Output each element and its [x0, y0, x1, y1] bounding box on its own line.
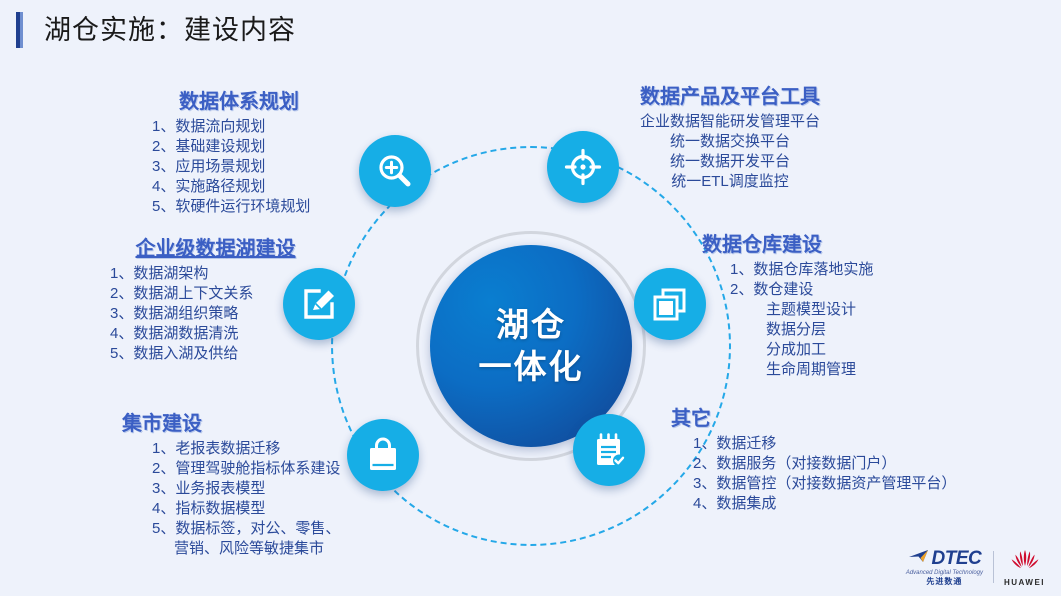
- list-item: 企业数据智能研发管理平台: [596, 112, 864, 132]
- dtec-wordmark: DTEC: [932, 549, 982, 568]
- huawei-flower-icon: [1008, 548, 1042, 576]
- block-list: 1、老报表数据迁移 2、管理驾驶舱指标体系建设 3、业务报表模型 4、指标数据模…: [122, 439, 387, 559]
- list-item: 1、老报表数据迁移: [152, 439, 387, 459]
- list-item: 3、数据湖组织策略: [110, 304, 353, 324]
- list-item: 1、数据迁移: [693, 434, 1001, 454]
- list-item: 4、数据集成: [693, 494, 1001, 514]
- hub-and-spoke-diagram: 湖仓 一体化: [0, 62, 1061, 596]
- list-item: 5、数据入湖及供给: [110, 344, 353, 364]
- list-item: 2、管理驾驶舱指标体系建设: [152, 459, 387, 479]
- block-enterprise-data-lake: 企业级数据湖建设 1、数据湖架构 2、数据湖上下文关系 3、数据湖组织策略 4、…: [78, 232, 353, 364]
- huawei-wordmark: HUAWEI: [1004, 579, 1045, 587]
- list-item: 1、数据仓库落地实施: [730, 260, 1002, 280]
- logo-divider: [993, 551, 994, 583]
- block-list: 1、数据流向规划 2、基础建设规划 3、应用场景规划 4、实施路径规划 5、软硬…: [108, 117, 370, 217]
- block-other: 其它 1、数据迁移 2、数据服务（对接数据门户） 3、数据管控（对接数据资产管理…: [671, 402, 1001, 514]
- block-list: 企业数据智能研发管理平台 统一数据交换平台 统一数据开发平台 统一ETL调度监控: [596, 112, 864, 192]
- list-item: 2、数据湖上下文关系: [110, 284, 353, 304]
- list-item: 5、数据标签，对公、零售、: [152, 519, 387, 539]
- huawei-logo: HUAWEI: [1004, 548, 1045, 587]
- list-item: 营销、风险等敏捷集市: [152, 539, 387, 559]
- title-accent-bar: [16, 12, 23, 48]
- center-hub-line2: 一体化: [479, 346, 584, 388]
- list-item: 5、软硬件运行环境规划: [152, 197, 370, 217]
- node-other[interactable]: [573, 414, 645, 486]
- block-data-mart: 集市建设 1、老报表数据迁移 2、管理驾驶舱指标体系建设 3、业务报表模型 4、…: [122, 407, 387, 559]
- list-item: 统一ETL调度监控: [596, 172, 864, 192]
- block-list: 1、数据迁移 2、数据服务（对接数据门户） 3、数据管控（对接数据资产管理平台）…: [671, 434, 1001, 514]
- dtec-logo: DTEC Advanced Digital Technology 先进数通: [906, 549, 983, 586]
- block-list: 1、数据湖架构 2、数据湖上下文关系 3、数据湖组织策略 4、数据湖数据清洗 5…: [78, 264, 353, 364]
- list-item: 4、实施路径规划: [152, 177, 370, 197]
- dtec-tagline: Advanced Digital Technology: [906, 570, 983, 576]
- block-title: 企业级数据湖建设: [78, 232, 353, 261]
- slide-header: 湖仓实施：建设内容: [0, 0, 1061, 62]
- list-item: 分成加工: [730, 340, 1002, 360]
- block-data-warehouse: 数据仓库建设 1、数据仓库落地实施 2、数仓建设 主题模型设计 数据分层 分成加…: [702, 228, 1002, 380]
- center-hub-line1: 湖仓: [496, 304, 566, 346]
- list-item: 统一数据交换平台: [596, 132, 864, 152]
- list-item: 1、数据流向规划: [152, 117, 370, 137]
- block-title: 集市建设: [122, 407, 387, 436]
- block-data-system-planning: 数据体系规划 1、数据流向规划 2、基础建设规划 3、应用场景规划 4、实施路径…: [108, 85, 370, 217]
- list-item: 2、基础建设规划: [152, 137, 370, 157]
- dtec-arrow-icon: [908, 549, 930, 568]
- list-item: 3、应用场景规划: [152, 157, 370, 177]
- list-item: 数据分层: [730, 320, 1002, 340]
- block-title: 数据产品及平台工具: [596, 80, 864, 109]
- block-list: 1、数据仓库落地实施 2、数仓建设 主题模型设计 数据分层 分成加工 生命周期管…: [702, 260, 1002, 380]
- block-title: 其它: [671, 402, 1001, 431]
- list-item: 2、数据服务（对接数据门户）: [693, 454, 1001, 474]
- footer-logos: DTEC Advanced Digital Technology 先进数通 HU…: [906, 546, 1045, 588]
- node-data-warehouse[interactable]: [634, 268, 706, 340]
- list-item: 4、指标数据模型: [152, 499, 387, 519]
- list-item: 4、数据湖数据清洗: [110, 324, 353, 344]
- dtec-chinese-name: 先进数通: [926, 578, 962, 586]
- page-title: 湖仓实施：建设内容: [44, 8, 296, 47]
- notepad-check-icon: [589, 430, 629, 470]
- block-title: 数据体系规划: [108, 85, 370, 114]
- list-item: 3、数据管控（对接数据资产管理平台）: [693, 474, 1001, 494]
- list-item: 生命周期管理: [730, 360, 1002, 380]
- list-item: 主题模型设计: [730, 300, 1002, 320]
- zoom-in-icon: [375, 151, 415, 191]
- list-item: 统一数据开发平台: [596, 152, 864, 172]
- list-item: 2、数仓建设: [730, 280, 1002, 300]
- list-item: 1、数据湖架构: [110, 264, 353, 284]
- block-title: 数据仓库建设: [702, 228, 1002, 257]
- copy-windows-icon: [650, 284, 690, 324]
- block-data-product-platform: 数据产品及平台工具 企业数据智能研发管理平台 统一数据交换平台 统一数据开发平台…: [596, 80, 864, 192]
- list-item: 3、业务报表模型: [152, 479, 387, 499]
- dtec-logo-mark: DTEC: [908, 549, 982, 568]
